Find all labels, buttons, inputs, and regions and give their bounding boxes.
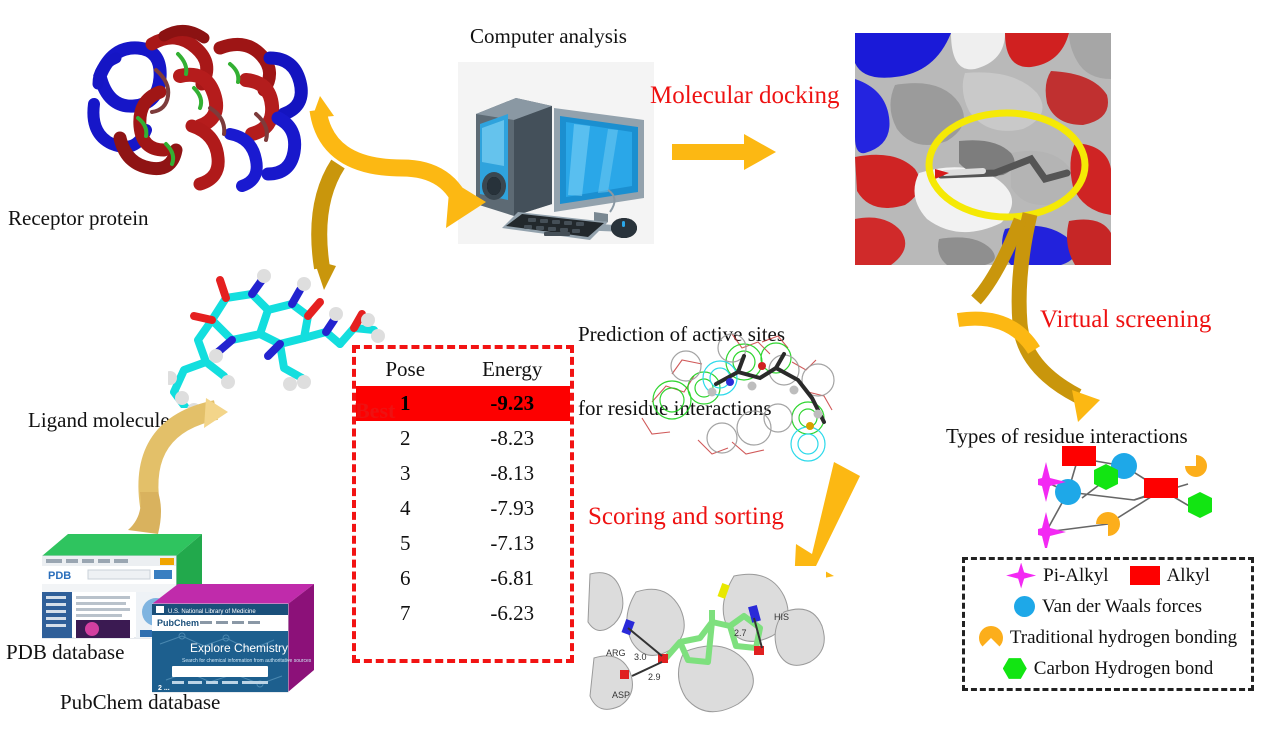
active-site-mesh-image <box>612 322 850 480</box>
pacman-orange-icon <box>979 626 1003 650</box>
header-energy: Energy <box>454 355 570 386</box>
pocket-his-distance: 2.7 <box>734 628 747 638</box>
legend-label-carbon-hydrogen: Carbon Hydrogen bond <box>1034 658 1213 680</box>
hexagon-green-icon <box>1003 658 1027 680</box>
pocket-arg-label: ARG <box>606 648 626 658</box>
cell-energy: -7.13 <box>454 526 570 561</box>
cell-pose: 4 <box>356 491 454 526</box>
virtual-screening-label: Virtual screening <box>1040 306 1211 335</box>
pubchem-database-label: PubChem database <box>60 690 220 715</box>
cell-energy: -6.81 <box>454 561 570 596</box>
cell-pose: 6 <box>356 561 454 596</box>
circle-blue-icon <box>1014 596 1035 617</box>
table-row: 2-8.23 <box>356 421 570 456</box>
legend-label-pi-alkyl: Pi-Alkyl <box>1043 565 1108 587</box>
cell-pose: 5 <box>356 526 454 561</box>
pocket-asp-label: ASP <box>612 690 630 700</box>
svg-text:U.S. National Library of Medic: U.S. National Library of Medicine <box>168 609 256 615</box>
computer-analysis-label: Computer analysis <box>470 24 627 49</box>
node-alkyl-icon <box>1144 478 1178 498</box>
pubchem-logo-text: PubChem <box>157 618 199 628</box>
arrow-to-docking <box>672 132 782 176</box>
pdb-logo-text: PDB <box>48 570 71 582</box>
cell-pose: 2 <box>356 421 454 456</box>
scoring-sorting-label: Scoring and sorting <box>588 503 784 532</box>
pocket-asp-distance: 2.9 <box>648 672 661 682</box>
pubchem-tagline-text: Explore Chemistry <box>190 641 288 655</box>
star-magenta-icon <box>1006 563 1036 589</box>
node-pi-alkyl-icon <box>1038 462 1066 548</box>
legend-label-hydrogen-bonding: Traditional hydrogen bonding <box>1010 627 1237 649</box>
cell-energy: -7.93 <box>454 491 570 526</box>
legend-row-3: Traditional hydrogen bonding <box>965 622 1251 653</box>
svg-text:Search for chemical informatio: Search for chemical information from aut… <box>182 658 312 664</box>
legend-box: Pi-Alkyl Alkyl Van der Waals forces Trad… <box>962 557 1254 691</box>
square-red-icon <box>1130 566 1160 585</box>
cell-pose: 7 <box>356 596 454 631</box>
pocket-his-label: HIS <box>774 612 789 622</box>
table-row: 4-7.93 <box>356 491 570 526</box>
ligand-molecule-image <box>168 258 386 408</box>
legend-row-4: Carbon Hydrogen bond <box>965 653 1251 684</box>
table-row: 6-6.81 <box>356 561 570 596</box>
molecular-docking-label: Molecular docking <box>650 82 840 111</box>
cell-energy: -6.23 <box>454 596 570 631</box>
legend-label-alkyl: Alkyl <box>1167 565 1210 587</box>
table-row: 7-6.23 <box>356 596 570 631</box>
arrow-databases-to-ligand <box>120 396 250 546</box>
receptor-protein-label: Receptor protein <box>8 206 149 231</box>
pdb-database-label: PDB database <box>6 640 124 665</box>
table-header-row: Pose Energy <box>356 355 570 386</box>
legend-row-1: Pi-Alkyl Alkyl <box>965 560 1251 591</box>
cell-energy: -8.23 <box>454 421 570 456</box>
pocket-arg-distance: 3.0 <box>634 652 647 662</box>
binding-pocket-image: ARG 3.0 2.9 ASP 2.7 HIS <box>584 566 826 716</box>
node-alkyl-icon <box>1062 446 1096 466</box>
pose-energy-table: Pose Energy 1-9.232-8.233-8.134-7.935-7.… <box>356 355 570 631</box>
table-row: 3-8.13 <box>356 456 570 491</box>
legend-label-vdw: Van der Waals forces <box>1042 596 1202 618</box>
cell-energy: -8.13 <box>454 456 570 491</box>
legend-row-2: Van der Waals forces <box>965 591 1251 622</box>
cell-pose: 3 <box>356 456 454 491</box>
interaction-network-diagram <box>1038 440 1238 548</box>
cell-energy: -9.23 <box>454 386 570 421</box>
table-row: 5-7.13 <box>356 526 570 561</box>
